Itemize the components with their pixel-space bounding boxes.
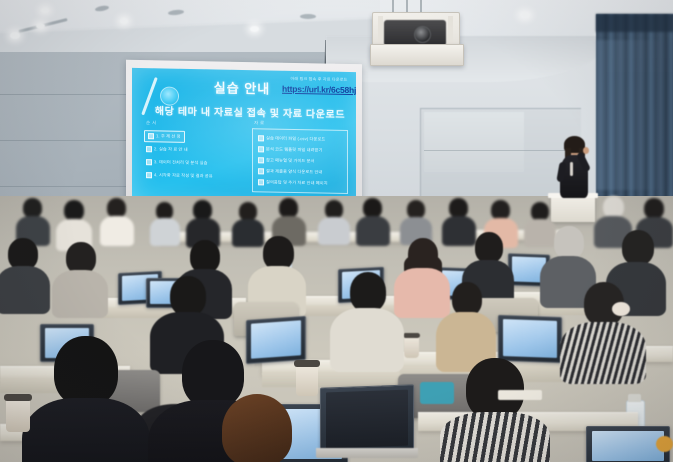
slide-right-column-header: 자 료 (254, 120, 264, 126)
hair-scrunchie (612, 302, 630, 316)
slide-left-column-header: 순 서 (146, 120, 156, 126)
slide-left-column: 1. 주 제 선 정 2. 실습 자 료 안 내 3. 데이터 전처리 및 분석… (144, 130, 232, 190)
attendee (56, 200, 92, 248)
presenter-lanyard (570, 162, 573, 176)
bullet-icon (148, 133, 154, 139)
slide-right-item: 분석 코드 템플릿 파일 내려받기 (258, 146, 322, 153)
laptop (320, 384, 414, 453)
track-light (10, 32, 20, 39)
wall-alcove-inner-panel (424, 112, 524, 172)
bullet-icon (258, 168, 264, 174)
slide-right-column: 실습 데이터 파일 (.csv) 다운로드 분석 코드 템플릿 파일 내려받기 … (252, 128, 348, 194)
projection-screen: 실습 안내 아래 링크 접속 후 자료 다운로드 https://url.kr/… (132, 68, 356, 208)
slide-right-item: 참고 매뉴얼 및 가이드 문서 (258, 157, 315, 164)
slide-left-item: 2. 실습 자 료 안 내 (146, 146, 188, 153)
wall-alcove-seam (424, 150, 576, 151)
bullet-icon (258, 135, 264, 141)
attendee (248, 236, 306, 310)
slide-url-link[interactable]: https://url.kr/6c58hj (282, 84, 356, 95)
bullet-icon (258, 157, 264, 163)
track-light (41, 8, 49, 13)
attendee (330, 272, 404, 368)
slide-url-note: 아래 링크 접속 후 자료 다운로드 (284, 76, 354, 83)
bottle-cap (628, 394, 641, 402)
slide-left-item: 4. 시각화 자료 작성 및 결과 공유 (146, 172, 213, 179)
paper-sheet (498, 390, 542, 400)
slide-subtitle: 해당 테마 내 자료실 접속 및 자료 다운로드 (150, 102, 350, 121)
presenter-hand (583, 147, 589, 154)
slide-right-item: 결과 제출용 양식 다운로드 안내 (258, 168, 322, 175)
attendee (560, 282, 646, 382)
attendee (318, 200, 350, 244)
notebook-teal (420, 382, 454, 404)
slide-left-item: 3. 데이터 전처리 및 분석 실습 (146, 159, 208, 166)
curtain-header (596, 14, 673, 32)
track-light (520, 12, 530, 18)
cup-lid (403, 333, 420, 338)
projector-lift-skirt (370, 44, 464, 66)
track-light (250, 26, 259, 32)
coffee-cup (6, 398, 30, 432)
bullet-icon (258, 146, 264, 152)
attendee (356, 198, 390, 244)
laptop (498, 315, 562, 363)
coffee-cup (404, 336, 419, 358)
presenter (556, 138, 592, 200)
attendee-foreground (196, 394, 316, 462)
attendee (52, 242, 108, 312)
curtain-light-glow (596, 40, 673, 190)
attendee (150, 202, 180, 244)
slide-right-item: 실습 데이터 파일 (.csv) 다운로드 (258, 135, 325, 142)
attendee (100, 198, 134, 244)
attendee-foreground (440, 358, 550, 462)
attendee (436, 282, 496, 370)
slide-right-item: 질의응답 및 추가 자료 안내 페이지 (258, 179, 328, 186)
recessed-ceiling-light (300, 14, 316, 19)
cup-lid (294, 360, 320, 367)
coffee-cup (296, 364, 318, 396)
attendee-foreground (22, 336, 150, 462)
track-light (36, 23, 45, 29)
bullet-icon (258, 179, 264, 185)
lecture-hall-photo: 실습 안내 아래 링크 접속 후 자료 다운로드 https://url.kr/… (0, 0, 673, 462)
attendee (0, 238, 50, 308)
track-light (120, 18, 128, 24)
bullet-icon (146, 146, 152, 152)
laptop-base (316, 448, 418, 458)
bullet-icon (146, 159, 152, 165)
cup-lid (4, 394, 32, 401)
orange-item (656, 436, 673, 452)
projector-lens-icon (414, 26, 431, 43)
bullet-icon (146, 172, 152, 178)
slide-left-item: 1. 주 제 선 정 (144, 130, 185, 143)
slide-title: 실습 안내 (202, 77, 282, 98)
